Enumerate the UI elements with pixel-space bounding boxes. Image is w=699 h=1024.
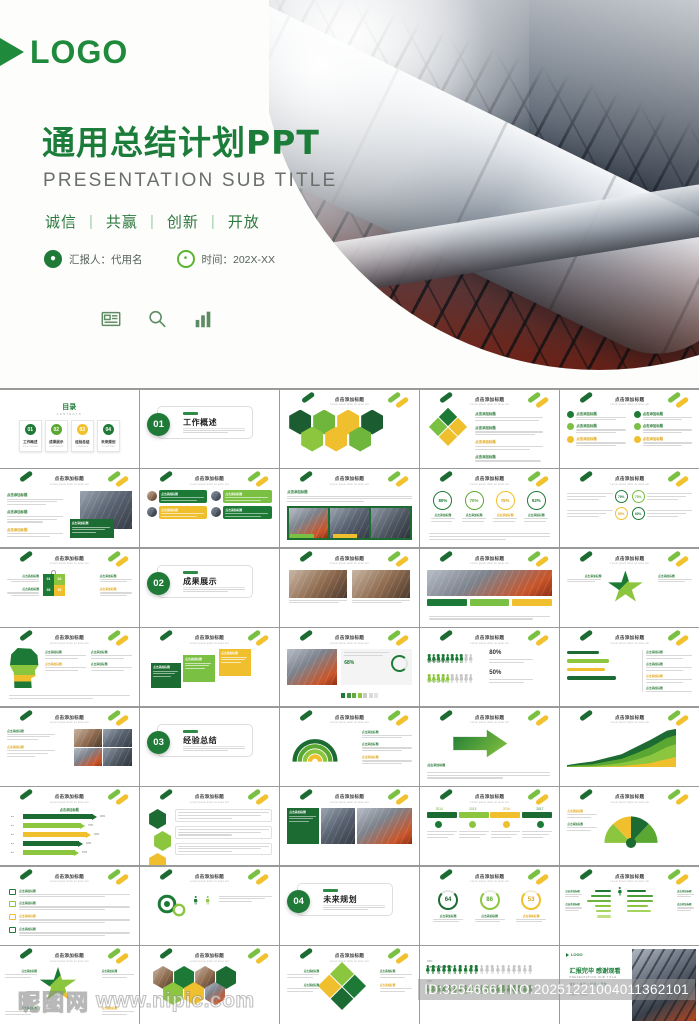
user-icon: ● — [44, 250, 62, 268]
arrow-graphic — [453, 729, 507, 759]
slide-title-zh: 点击添加标题 — [3, 635, 136, 641]
icon-row[interactable]: 点击添加标题 — [567, 423, 625, 433]
slide-title-zh: 点击添加标题 — [423, 635, 556, 641]
intro-text: 点击添加标题 — [287, 489, 412, 502]
section-tag — [183, 412, 198, 416]
hex-column — [149, 809, 171, 865]
slide-title-zh: 点击添加标题 — [3, 556, 136, 562]
slide-title-en: Lorem ipsum dolor sit amet elit — [563, 562, 696, 565]
logo-text: LOGO — [30, 36, 128, 68]
number-caption-row: 点击添加标题 点击添加标题 点击添加标题 — [427, 914, 552, 923]
slide-title: 点击添加标题 Lorem ipsum dolor sit amet elit — [283, 556, 416, 566]
donut-grid: 79% 73% 50% 60% — [567, 490, 692, 520]
slogan-2: 共赢 — [106, 211, 138, 232]
slogan-3: 创新 — [167, 211, 199, 232]
thumbnail-section-02[interactable]: 02 成果展示 — [140, 549, 279, 627]
list-item-heading: 点击添加标题 — [475, 454, 543, 459]
right-callout: 点击添加标题 点击添加标题 — [100, 574, 132, 597]
right-bars — [627, 890, 655, 913]
slogan-1: 诚信 — [45, 211, 77, 232]
hexagon-row-bottom — [301, 427, 371, 452]
slide-title-en: Lorem ipsum dolor sit amet elit — [563, 403, 696, 406]
slide-title: 点击添加标题 Lorem ipsum dolor sit amet elit — [283, 635, 416, 645]
photo-card-row — [289, 570, 410, 604]
thumbnail-arrow-bars[interactable]: 点击添加标题 Lorem ipsum dolor sit amet elit 点… — [0, 787, 139, 865]
toc-card-label: 成果展示 — [49, 440, 63, 445]
hex-text-item[interactable] — [175, 843, 272, 856]
bullet-list: 点击添加标题 点击添加标题 点击添加标题 — [7, 492, 63, 537]
puzzle-piece[interactable]: 03 — [43, 585, 54, 596]
bar-value: 52% — [86, 842, 91, 845]
slide-title-en: Lorem ipsum dolor sit amet elit — [563, 483, 696, 486]
news-icon — [100, 308, 122, 330]
thumbnail-body-chart[interactable]: 点击添加标题 Lorem ipsum dolor sit amet elit — [560, 867, 699, 945]
right-callout-2: 点击添加标题 — [102, 1006, 134, 1015]
toc-card[interactable]: 01 工作概述 WORK OVERVIEW — [19, 420, 42, 452]
slide-title-zh: 点击添加标题 — [283, 476, 416, 482]
slide-title-zh: 点击添加标题 — [3, 874, 136, 880]
toc-card-label-en: ACHIEVEMENTS — [49, 446, 63, 448]
slide-title-en: Lorem ipsum dolor sit amet elit — [283, 483, 416, 486]
logo[interactable]: LOGO — [0, 36, 128, 68]
slide-title-en: Lorem ipsum dolor sit amet elit — [283, 801, 416, 804]
slide-title: 点击添加标题 Lorem ipsum dolor sit amet elit — [283, 397, 416, 407]
puzzle-piece[interactable]: 01 — [43, 574, 54, 585]
nested-arc-chart — [289, 731, 341, 765]
page-title: 通用总结计划PPT — [42, 116, 320, 164]
hero-slide: LOGO 通用总结计划PPT PRESENTATION SUB TITLE 诚信… — [0, 0, 699, 388]
timeline-icons — [427, 821, 552, 828]
slide-title: 点击添加标题 Lorem ipsum dolor sit amet elit — [563, 397, 696, 407]
slide-title: 点击添加标题 Lorem ipsum dolor sit amet elit — [3, 476, 136, 486]
slide-title-en: Lorem ipsum dolor sit amet elit — [563, 721, 696, 724]
slide-photo — [427, 570, 552, 596]
photo-caption-card: 点击添加标题 — [70, 519, 114, 538]
description-percent-2: 50% — [427, 980, 432, 983]
thumbnail-arc-chart[interactable]: 点击添加标题 Lorem ipsum dolor sit amet elit 点… — [280, 708, 419, 786]
slide-title-en: Lorem ipsum dolor sit amet elit — [283, 721, 416, 724]
bar-value: 87% — [82, 851, 87, 854]
left-bars — [583, 890, 611, 918]
thumbnail-hexagon-cluster[interactable]: 点击添加标题 Lorem ipsum dolor sit amet elit — [280, 390, 419, 468]
icon-row[interactable]: 点击添加标题 — [634, 411, 692, 421]
hex-text-item[interactable] — [175, 826, 272, 839]
thumbnail-section-03[interactable]: 03 经验总结 — [140, 708, 279, 786]
slide-title-zh: 点击添加标题 — [563, 397, 696, 403]
thumbnail-gears-people[interactable]: 点击添加标题 Lorem ipsum dolor sit amet elit — [140, 867, 279, 945]
puzzle-piece[interactable]: 04 — [54, 585, 65, 596]
slide-title-zh: 点击添加标题 — [423, 556, 556, 562]
badge[interactable] — [512, 599, 552, 606]
thumbnail-big-arrow[interactable]: 点击添加标题 Lorem ipsum dolor sit amet elit 点… — [420, 708, 559, 786]
arrow-bar-row: ●● 87% — [11, 850, 132, 855]
slide-title: 点击添加标题 Lorem ipsum dolor sit amet elit — [563, 476, 696, 486]
slide-title-en: Lorem ipsum dolor sit amet elit — [3, 801, 136, 804]
hexagon-item[interactable] — [149, 853, 166, 865]
slogan-row: 诚信 | 共赢 | 创新 | 开放 — [45, 211, 260, 232]
pictogram-grid-1 — [425, 965, 554, 976]
toc-badge: 04 — [103, 424, 114, 435]
thumbnail-semicircle-pie[interactable]: 点击添加标题 Lorem ipsum dolor sit amet elit 点… — [560, 787, 699, 865]
closing-title: 汇报完毕 感谢观看 — [569, 966, 620, 975]
slide-title-en: Lorem ipsum dolor sit amet elit — [423, 562, 556, 565]
bar-chart-icon — [192, 308, 214, 330]
thumbnail-donut-quad[interactable]: 点击添加标题 Lorem ipsum dolor sit amet elit 7… — [560, 469, 699, 547]
avatar-card[interactable]: 点击添加标题 — [211, 490, 271, 503]
section-rule — [183, 746, 245, 747]
slide-title-zh: 点击添加标题 — [143, 874, 276, 880]
bar-value: 46% — [94, 833, 99, 836]
body-silhouette-icon — [613, 887, 626, 925]
slide-title-en: Lorem ipsum dolor sit amet elit — [143, 960, 276, 963]
slide-title-en: Lorem ipsum dolor sit amet elit — [283, 562, 416, 565]
hexagon-item[interactable] — [184, 982, 204, 1005]
timeline-year: 2017 — [528, 807, 552, 811]
thumbnail-briefcase-puzzle[interactable]: 点击添加标题 Lorem ipsum dolor sit amet elit 0… — [0, 549, 139, 627]
toc-badge: 03 — [77, 424, 88, 435]
ring-row: 80% 70% 76% 92% — [427, 491, 552, 510]
icon-row[interactable]: 点击添加标题 — [634, 423, 692, 433]
checklist-item[interactable]: 点击添加标题 — [9, 927, 130, 936]
slide-title-zh: 点击添加标题 — [563, 635, 696, 641]
avatar-card[interactable]: 点击添加标题 — [147, 506, 207, 519]
left-callout: 点击添加标题 点击添加标题 — [287, 969, 319, 992]
slide-title-zh: 点击添加标题 — [563, 556, 696, 562]
percent-ring: 70% — [465, 491, 484, 510]
thumbnail-icon-two-column[interactable]: 点击添加标题 Lorem ipsum dolor sit amet elit 点… — [560, 390, 699, 468]
thumbnail-section-04[interactable]: 04 未来规划 — [280, 867, 419, 945]
toc-card-label-en: FUTURE PLAN — [102, 446, 114, 448]
left-callout-2: 点击添加标题 — [5, 1006, 37, 1015]
slide-title: 点击添加标题 Lorem ipsum dolor sit amet elit — [563, 635, 696, 645]
hex-text-item[interactable] — [175, 809, 272, 822]
percent-ring: 92% — [527, 491, 546, 510]
slide-title: 点击添加标题 Lorem ipsum dolor sit amet elit — [423, 476, 556, 486]
slide-title: 点击添加标题 Lorem ipsum dolor sit amet elit — [3, 953, 136, 963]
right-callout: 点击添加标题 — [102, 969, 134, 978]
checklist-item[interactable]: 点击添加标题 — [9, 914, 130, 923]
icon-row[interactable]: 点击添加标题 — [567, 436, 625, 446]
callout[interactable]: 点击添加标题 — [45, 662, 86, 671]
slogan-separator: | — [150, 213, 155, 230]
toc-card[interactable]: 04 未来规划 FUTURE PLAN — [97, 420, 120, 452]
thumbnail-pipeline-badges[interactable]: 点击添加标题 Lorem ipsum dolor sit amet elit — [420, 549, 559, 627]
closing-logo: LOGO — [566, 952, 582, 957]
closing-logo-text: LOGO — [571, 952, 583, 957]
closing-slogans: 诚信 | 共赢 | 创新 | 开放 — [569, 982, 607, 986]
arrow-bar-row: ●● 52% — [11, 841, 132, 846]
slide-title-en: Lorem ipsum dolor sit amet elit — [3, 880, 136, 883]
semicircle-pie-chart — [591, 810, 671, 848]
badge[interactable] — [470, 599, 510, 606]
feature-icon-row — [100, 308, 214, 330]
left-callout: 点击添加标题 点击添加标题 — [7, 574, 39, 597]
timeline-year: 2015 — [461, 807, 485, 811]
slide-title-zh: 点击添加标题 — [423, 874, 556, 880]
bar-value: 90% — [100, 815, 105, 818]
arc-legend: 点击添加标题 点击添加标题 点击添加标题 — [362, 730, 412, 765]
slide-title: 点击添加标题 Lorem ipsum dolor sit amet elit — [3, 794, 136, 804]
checklist: 点击添加标题 点击添加标题 点击添加标题 点击添加标题 — [9, 889, 130, 937]
checklist-item[interactable]: 点击添加标题 — [9, 901, 130, 910]
closing-subtitle: PRESENTATION SUB TITLE — [569, 975, 616, 979]
slide-title: 点击添加标题 Lorem ipsum dolor sit amet elit — [143, 874, 276, 884]
slide-title-en: Lorem ipsum dolor sit amet elit — [143, 642, 276, 645]
panel-caption-2 — [333, 534, 357, 538]
donut-item[interactable]: 73% — [632, 490, 692, 503]
section-title: 成果展示 — [183, 576, 217, 587]
number-ring: 64 — [438, 890, 458, 910]
icon-row[interactable]: 点击添加标题 — [634, 436, 692, 446]
page-subtitle: PRESENTATION SUB TITLE — [43, 170, 337, 192]
hexagon-photo[interactable] — [205, 982, 225, 1005]
slide-title-zh: 点击添加标题 — [143, 635, 276, 641]
callout-grid: 点击添加标题 点击添加标题 点击添加标题 点击添加标题 — [45, 650, 132, 671]
hexagon-item[interactable] — [301, 427, 323, 452]
timeline-chip[interactable] — [522, 812, 552, 818]
slide-title-zh: 点击添加标题 — [423, 715, 556, 721]
puzzle-graphic — [427, 407, 469, 449]
donut-chart — [391, 655, 408, 672]
thumbnail-percent-rings[interactable]: 点击添加标题 Lorem ipsum dolor sit amet elit 8… — [420, 469, 559, 547]
icon-grid: 点击添加标题 点击添加标题 点击添加标题 点击添加标题 — [567, 411, 692, 447]
slide-title-zh: 点击添加标题 — [3, 794, 136, 800]
presenter-meta: ● 汇报人：代用名 • 时间：202X-XX — [44, 250, 275, 268]
closing-photo — [632, 949, 696, 1021]
stacked-card[interactable]: 点击添加标题 — [219, 649, 251, 676]
avatar-card[interactable]: 点击添加标题 — [211, 506, 271, 519]
timeline-years: 2014 2015 2016 2017 — [427, 807, 552, 811]
thumbnail-section-01[interactable]: 01 工作概述 — [140, 390, 279, 468]
callout[interactable]: 点击添加标题 — [91, 662, 132, 671]
section-title: 经验总结 — [183, 735, 217, 746]
thumbnail-description-pictogram[interactable]: Description Here 50% 50% — [420, 946, 559, 1024]
badge[interactable] — [427, 599, 467, 606]
thumbnail-hex-photo-cluster[interactable]: 点击添加标题 Lorem ipsum dolor sit amet elit — [140, 946, 279, 1024]
thumbnail-puzzle-list[interactable]: 点击添加标题 Lorem ipsum dolor sit amet elit 点… — [420, 390, 559, 468]
toc-card-list: 01 工作概述 WORK OVERVIEW 02 成果展示 ACHIEVEMEN… — [3, 420, 136, 452]
arrow-bar-list: ●● 90% ●● 75% ●● 46% ●● — [11, 814, 132, 855]
slide-title-zh: 点击添加标题 — [3, 953, 136, 959]
pictogram-grid-2 — [425, 985, 554, 996]
donut-item[interactable]: 50% — [567, 507, 627, 520]
right-labels: 点击添加标题 点击添加标题 — [677, 889, 694, 912]
slide-title-zh: 点击添加标题 — [283, 794, 416, 800]
bar — [567, 651, 598, 654]
photo-mosaic — [74, 729, 132, 767]
thumbnail-gauge-photo[interactable]: 点击添加标题 Lorem ipsum dolor sit amet elit 6… — [280, 628, 419, 706]
page-root: LOGO 通用总结计划PPT PRESENTATION SUB TITLE 诚信… — [0, 0, 699, 1024]
slide-title-zh: 点击添加标题 — [283, 715, 416, 721]
icon-row[interactable]: 点击添加标题 — [567, 411, 625, 421]
section-number: 01 — [147, 413, 170, 436]
slide-title-zh: 点击添加标题 — [3, 476, 136, 482]
star-icon — [39, 967, 77, 1003]
callout[interactable]: 点击添加标题 — [91, 650, 132, 659]
section-title: 未来规划 — [323, 894, 357, 905]
slide-title-zh: 点击添加标题 — [563, 874, 696, 880]
pictogram-row-1 — [427, 654, 472, 663]
toc-card[interactable]: 02 成果展示 ACHIEVEMENTS — [45, 420, 68, 452]
concept-value-1: 80% — [489, 650, 501, 656]
slide-title-en: Lorem ipsum dolor sit amet elit — [563, 880, 696, 883]
slide-title: 点击添加标题 Lorem ipsum dolor sit amet elit — [563, 874, 696, 884]
section-rule — [183, 587, 245, 588]
slide-title-zh: 点击添加标题 — [283, 953, 416, 959]
slide-title-en: Lorem ipsum dolor sit amet elit — [283, 642, 416, 645]
section-description — [183, 589, 245, 593]
thumbnail-closing-slide[interactable]: LOGO 汇报完毕 感谢观看 PRESENTATION SUB TITLE 诚信… — [560, 946, 699, 1024]
toc-card[interactable]: 03 经验总结 EXPERIENCE — [71, 420, 94, 452]
thumbnail-big-number-rings[interactable]: 点击添加标题 Lorem ipsum dolor sit amet elit 6… — [420, 867, 559, 945]
section-number: 02 — [147, 572, 170, 595]
hexagon-item[interactable] — [154, 831, 171, 851]
slide-title-en: Lorem ipsum dolor sit amet elit — [143, 880, 276, 883]
panel-caption-1 — [290, 534, 314, 538]
callout[interactable]: 点击添加标题 — [45, 650, 86, 659]
donut-item[interactable]: 60% — [632, 507, 692, 520]
hexagon-item[interactable] — [149, 809, 166, 829]
closing-presenter: 汇报人：代用名 — [569, 992, 587, 996]
thumbnail-avatar-cards[interactable]: 点击添加标题 Lorem ipsum dolor sit amet elit 点… — [140, 469, 279, 547]
donut-item[interactable]: 79% — [567, 490, 627, 503]
slide-title: 点击添加标题 Lorem ipsum dolor sit amet elit — [423, 635, 556, 645]
toc-subtitle: CONTENTS — [3, 413, 136, 416]
slide-title: 点击添加标题 Lorem ipsum dolor sit amet elit — [563, 794, 696, 804]
slide-title-en: Lorem ipsum dolor sit amet elit — [563, 642, 696, 645]
slide-title-en: Lorem ipsum dolor sit amet elit — [143, 801, 276, 804]
list-item-heading: 点击添加标题 — [475, 425, 543, 430]
timeline-year: 2016 — [494, 807, 518, 811]
checklist-item[interactable]: 点击添加标题 — [9, 889, 130, 898]
slide-title-en: Lorem ipsum dolor sit amet elit — [423, 642, 556, 645]
timeline-chip[interactable] — [459, 812, 489, 818]
slide-title-zh: 点击添加标题 — [283, 556, 416, 562]
avatar-card[interactable]: 点击添加标题 — [147, 490, 207, 503]
photo-card[interactable] — [352, 570, 410, 604]
timeline-chips — [427, 812, 552, 818]
section-description — [323, 907, 385, 911]
slide-title: 点击添加标题 Lorem ipsum dolor sit amet elit — [423, 397, 556, 407]
date-label: 时间：202X-XX — [202, 252, 276, 267]
thumbnail-stacked-cards[interactable]: 点击添加标题 Lorem ipsum dolor sit amet elit 点… — [140, 628, 279, 706]
right-callout: 点击添加标题 点击添加标题 — [380, 969, 412, 992]
play-triangle-icon — [0, 38, 24, 66]
thumbnail-star-text[interactable]: 点击添加标题 Lorem ipsum dolor sit amet elit 点… — [0, 946, 139, 1024]
photo-card[interactable] — [289, 570, 347, 604]
hexagon-item[interactable] — [325, 427, 347, 452]
toc-card-label-en: WORK OVERVIEW — [22, 446, 38, 448]
slide-title-zh: 点击添加标题 — [563, 715, 696, 721]
stacked-card[interactable]: 点击添加标题 — [183, 655, 215, 682]
slide-title-zh: 点击添加标题 — [423, 794, 556, 800]
thumbnail-text-photo[interactable]: 点击添加标题 Lorem ipsum dolor sit amet elit 点… — [0, 469, 139, 547]
slide-title-en: Lorem ipsum dolor sit amet elit — [283, 403, 416, 406]
section-description — [183, 748, 245, 752]
slide-title-en: Lorem ipsum dolor sit amet elit — [3, 721, 136, 724]
presenter-label: 汇报人：代用名 — [69, 252, 143, 267]
toc-card-label-en: EXPERIENCE — [77, 446, 89, 448]
thumbnail-star-graphic[interactable]: 点击添加标题 Lorem ipsum dolor sit amet elit 点… — [560, 549, 699, 627]
slide-title-en: Lorem ipsum dolor sit amet elit — [3, 642, 136, 645]
pictogram-row-2 — [427, 674, 472, 683]
thumbnail-hex-list[interactable]: 点击添加标题 Lorem ipsum dolor sit amet elit — [140, 787, 279, 865]
stacked-card[interactable]: 点击添加标题 — [151, 663, 181, 688]
thumbnail-panel-photos-2[interactable]: 点击添加标题 Lorem ipsum dolor sit amet elit 点… — [280, 787, 419, 865]
puzzle-piece[interactable]: 02 — [54, 574, 65, 585]
stat-panel: 68% — [341, 649, 412, 685]
slide-title-en: Lorem ipsum dolor sit amet elit — [3, 960, 136, 963]
thumbnail-hbars-text[interactable]: 点击添加标题 Lorem ipsum dolor sit amet elit 点… — [560, 628, 699, 706]
section-description — [183, 430, 245, 434]
search-icon — [146, 308, 168, 330]
slide-title: 点击添加标题 Lorem ipsum dolor sit amet elit — [3, 635, 136, 645]
gear-icon — [171, 902, 187, 918]
slide-thumbnail-grid: 目录 CONTENTS 01 工作概述 WORK OVERVIEW 02 成果展… — [0, 388, 699, 1024]
slide-photo — [357, 808, 412, 844]
thumbnail-photo-mosaic[interactable]: 点击添加标题 Lorem ipsum dolor sit amet elit 点… — [0, 708, 139, 786]
slogan-4: 开放 — [228, 211, 260, 232]
timeline-year: 2014 — [427, 807, 451, 811]
slide-title-en: Lorem ipsum dolor sit amet elit — [423, 403, 556, 406]
hero-background-photo — [269, 0, 699, 388]
timeline-captions — [427, 831, 552, 838]
section-rule — [323, 905, 385, 906]
toc-card-label: 工作概述 — [23, 440, 37, 445]
slide-title: 点击添加标题 Lorem ipsum dolor sit amet elit — [423, 874, 556, 884]
hexagon-item[interactable] — [163, 982, 183, 1005]
section-number: 03 — [147, 731, 170, 754]
slide-photo — [287, 649, 337, 685]
thumbnail-head-infographic[interactable]: 点击添加标题 Lorem ipsum dolor sit amet elit 点… — [0, 628, 139, 706]
left-callout: 点击添加标题 — [5, 969, 37, 978]
arrow-bar-row: ●● 46% — [11, 832, 132, 837]
thumbnail-people-pictogram[interactable]: 点击添加标题 Lorem ipsum dolor sit amet elit N… — [420, 628, 559, 706]
bar — [567, 659, 609, 662]
bar-legend: 点击添加标题 点击添加标题 点击添加标题 点击添加标题 — [642, 650, 692, 692]
slide-title: 点击添加标题 Lorem ipsum dolor sit amet elit — [143, 476, 276, 486]
slide-title-en: Lorem ipsum dolor sit amet elit — [3, 562, 136, 565]
presenter-item: ● 汇报人：代用名 — [44, 250, 143, 268]
thumbnail-area-chart[interactable]: 点击添加标题 Lorem ipsum dolor sit amet elit — [560, 708, 699, 786]
arrow-bar-row: ●● 75% — [11, 823, 132, 828]
thumbnail-timeline[interactable]: 点击添加标题 Lorem ipsum dolor sit amet elit 2… — [420, 787, 559, 865]
timeline-chip[interactable] — [490, 812, 520, 818]
number-ring-row: 64 86 53 — [427, 890, 552, 910]
slide-title-zh: 点击添加标题 — [563, 794, 696, 800]
timeline-chip[interactable] — [427, 812, 457, 818]
number-ring: 86 — [480, 890, 500, 910]
date-item: • 时间：202X-XX — [177, 250, 276, 268]
thumbnail-green-panel-photos[interactable]: 点击添加标题 Lorem ipsum dolor sit amet elit 点… — [280, 469, 419, 547]
hexagon-item[interactable] — [349, 427, 371, 452]
slide-title-zh: 点击添加标题 — [423, 476, 556, 482]
diamond-graphic — [318, 962, 366, 1010]
thumbnail-toc[interactable]: 目录 CONTENTS 01 工作概述 WORK OVERVIEW 02 成果展… — [0, 390, 139, 468]
slide-title: 点击添加标题 Lorem ipsum dolor sit amet elit — [283, 794, 416, 804]
thumbnail-two-photo-cards[interactable]: 点击添加标题 Lorem ipsum dolor sit amet elit — [280, 549, 419, 627]
avatar-card-grid: 点击添加标题 点击添加标题 点击添加标题 — [147, 490, 272, 519]
thumbnail-icon-checklist[interactable]: 点击添加标题 Lorem ipsum dolor sit amet elit 点… — [0, 867, 139, 945]
bullet-list: 点击添加标题 点击添加标题 点击添加标题 点击添加标题 — [475, 411, 543, 462]
green-panel: 点击添加标题 — [287, 808, 319, 844]
section-title: 工作概述 — [183, 417, 217, 428]
percent-ring: 80% — [433, 491, 452, 510]
thumbnail-diamond-quad[interactable]: 点击添加标题 Lorem ipsum dolor sit amet elit 点… — [280, 946, 419, 1024]
slide-title: 点击添加标题 Lorem ipsum dolor sit amet elit — [563, 715, 696, 725]
number-ring: 53 — [521, 890, 541, 910]
toc-title: 目录 — [3, 402, 136, 412]
